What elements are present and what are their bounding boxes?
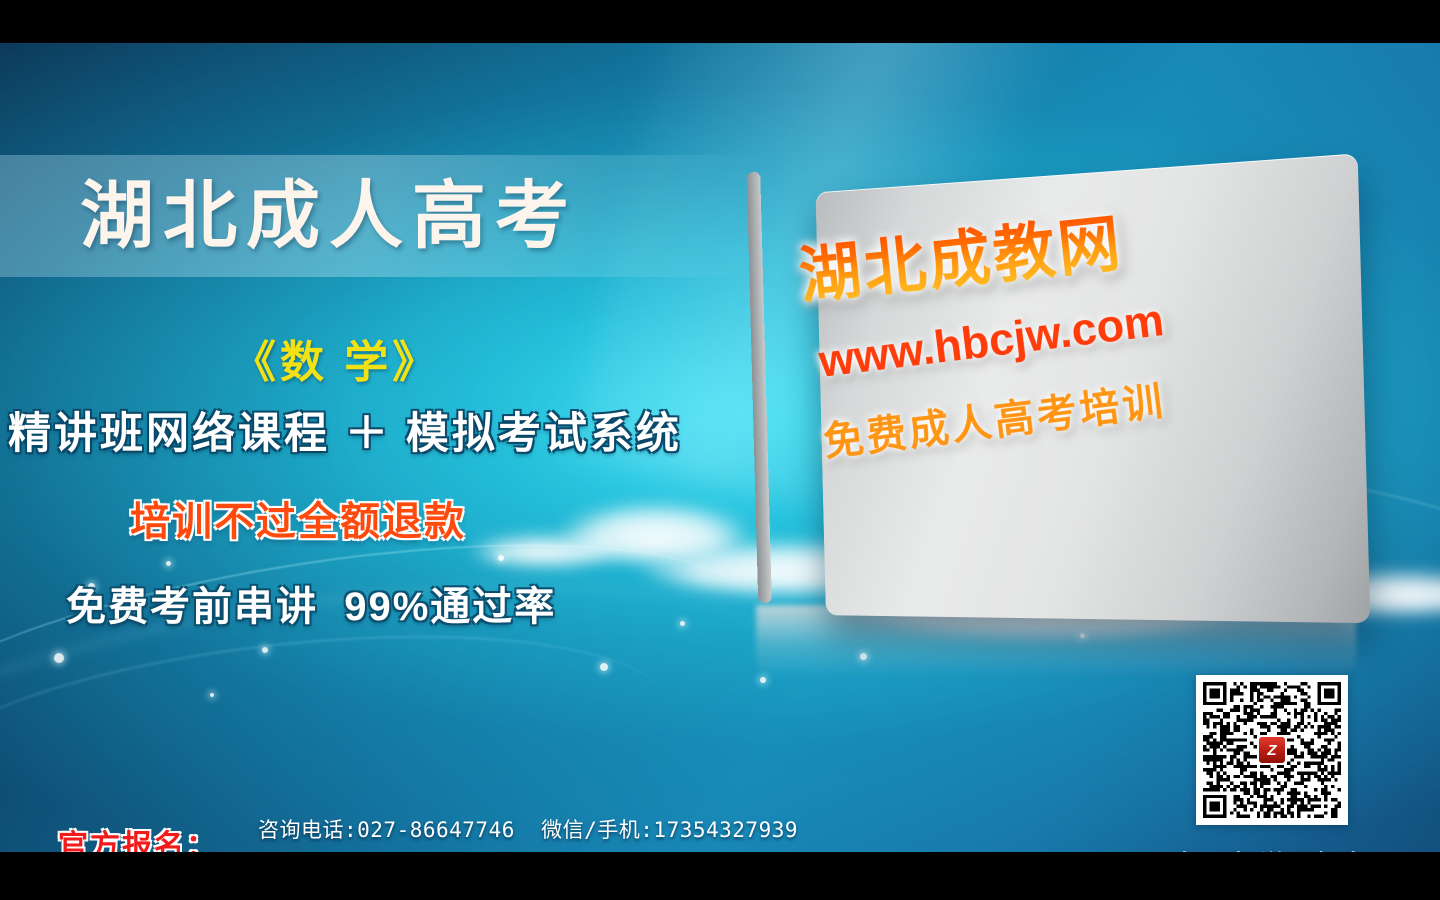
poster-root: 湖北成教网 www.hbcjw.com 免费成人高考培训 湖北成人高考 《数 学…	[0, 0, 1440, 900]
cloud-wisp	[470, 535, 620, 565]
panel-left-edge	[747, 171, 772, 603]
subject-title: 《数 学》	[232, 326, 440, 390]
cloud-left	[560, 503, 750, 561]
letterbox-top	[0, 0, 1440, 43]
official-signup-label: 官方报名：	[58, 821, 218, 852]
bokeh-dot	[262, 647, 268, 653]
brand-slogan: 免费成人高考培训	[820, 368, 1169, 467]
bokeh-dot	[54, 653, 64, 663]
contact-block: 咨询电话:027-86647746 微信/手机:17354327939 咨询Q …	[258, 811, 849, 852]
refund-guarantee-line: 培训不过全额退款	[130, 489, 466, 547]
bokeh-dot	[760, 677, 766, 683]
brand-block: 湖北成教网 www.hbcjw.com 免费成人高考培训	[780, 193, 1340, 553]
page-title: 湖北成人高考	[80, 161, 578, 271]
feature-line: 精讲班网络课程 ＋ 模拟考试系统	[8, 399, 682, 461]
qr-center-logo: Z	[1257, 735, 1287, 765]
qr-caption: 扫一扫送历年真题	[1170, 845, 1376, 852]
bokeh-dot	[600, 663, 608, 671]
bokeh-dot	[498, 555, 504, 561]
swoosh-curve-1	[0, 494, 773, 852]
contact-line-1: 咨询电话:027-86647746 微信/手机:17354327939	[258, 811, 849, 849]
bokeh-dot	[210, 693, 214, 697]
bokeh-dot	[680, 621, 685, 626]
qr-code[interactable]: Z	[1196, 675, 1348, 825]
brand-name-cn: 湖北成教网	[794, 192, 1127, 315]
bokeh-dot	[166, 561, 171, 566]
artwork-canvas: 湖北成教网 www.hbcjw.com 免费成人高考培训 湖北成人高考 《数 学…	[0, 43, 1440, 852]
pass-rate-line: 免费考前串讲 99%通过率	[66, 574, 556, 632]
letterbox-bottom	[0, 852, 1440, 900]
